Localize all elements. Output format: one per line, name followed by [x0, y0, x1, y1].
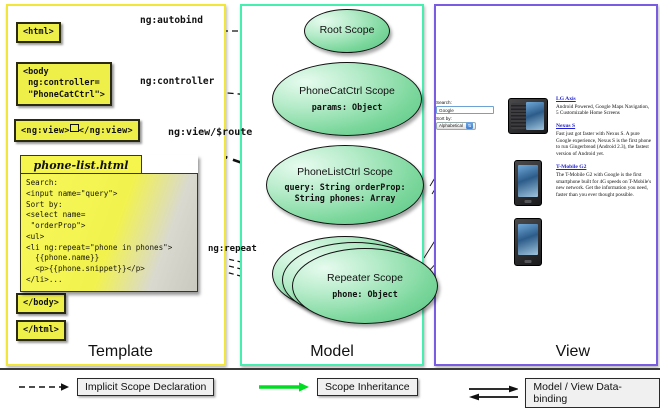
partial-template-callout: phone-list.html Search: <input name="que… — [20, 155, 198, 292]
sort-label: Sort by: — [436, 116, 498, 122]
wire-label-controller: ng:controller — [140, 76, 214, 87]
view-phone-list: LG Axis Android Powered, Google Maps Nav… — [556, 96, 652, 205]
phone-snippet: The T-Mobile G2 with Google is the first… — [556, 172, 652, 199]
phone-name-link[interactable]: LG Axis — [556, 96, 652, 102]
legend-label: Implicit Scope Declaration — [77, 378, 214, 396]
scope-phonelistctrl: PhoneListCtrl Scope query: String orderP… — [266, 145, 424, 225]
view-search-form: Search: Google Sort by: Alphabetical ⇅ — [436, 100, 498, 130]
phone-snippet: Android Powered, Google Maps Navigation,… — [556, 104, 652, 118]
panel-model-label: Model — [242, 343, 422, 361]
dashed-arrow-icon — [18, 381, 70, 393]
legend: Implicit Scope Declaration Scope Inherit… — [0, 368, 660, 407]
wire-label-ngrepeat: ng:repeat — [208, 244, 257, 254]
partial-code: Search: <input name="query"> Sort by: <s… — [20, 173, 198, 292]
ngview-open: <ng:view> — [21, 126, 70, 136]
scope-repeater: Repeater Scope phone: Object — [292, 248, 438, 324]
home-button-icon — [525, 200, 532, 203]
html-tag: <html> — [16, 22, 61, 43]
home-button-icon — [525, 260, 532, 263]
wire-label-ngview-route: ng:view/$route — [168, 127, 252, 138]
scope-phonecatctrl: PhoneCatCtrl Scope params: Object — [272, 62, 422, 136]
legend-item-scope-inheritance: Scope Inheritance — [258, 378, 418, 396]
list-item: LG Axis Android Powered, Google Maps Nav… — [556, 96, 652, 117]
sort-select[interactable]: Alphabetical ⇅ — [436, 122, 476, 130]
scope-phonecatctrl-props: params: Object — [312, 102, 383, 113]
partial-title: phone-list.html — [20, 155, 142, 174]
panel-template-label: Template — [8, 343, 224, 361]
scope-repeater-props: phone: Object — [332, 289, 398, 300]
phone-name-link[interactable]: T-Mobile G2 — [556, 164, 652, 170]
phone-screen — [526, 102, 544, 130]
sort-select-value: Alphabetical — [439, 122, 463, 130]
legend-item-data-binding: Model / View Data-binding — [468, 378, 660, 408]
scope-phonelistctrl-props: query: String orderProp: String phones: … — [267, 182, 423, 203]
scope-phonecatctrl-name: PhoneCatCtrl Scope — [299, 86, 395, 98]
phone-screen — [518, 224, 538, 255]
scope-root: Root Scope — [304, 9, 390, 53]
html-close-tag: </html> — [16, 320, 66, 341]
diagram-canvas: Template <html> <body ng:controller= "Ph… — [0, 0, 660, 405]
search-label: Search: — [436, 100, 498, 106]
ngview-placeholder-icon — [70, 124, 79, 132]
phone-thumbnail-lg-axis — [508, 98, 548, 134]
phone-name-link[interactable]: Nexus S — [556, 123, 652, 129]
phone-screen — [518, 165, 538, 197]
legend-label: Scope Inheritance — [317, 378, 418, 396]
body-tag: <body ng:controller= "PhoneCatCtrl"> — [16, 62, 112, 106]
scope-repeater-name: Repeater Scope — [327, 273, 403, 285]
wire-label-autobind: ng:autobind — [140, 15, 203, 26]
keyboard-detail — [511, 103, 526, 129]
double-arrow-icon — [468, 385, 518, 401]
legend-label: Model / View Data-binding — [525, 378, 660, 408]
phone-thumbnail-tmobile-g2 — [514, 218, 542, 266]
ngview-tag: <ng:view></ng:view> — [14, 119, 140, 142]
phone-snippet: Fast just got faster with Nexus S. A pur… — [556, 131, 652, 158]
legend-item-implicit-scope: Implicit Scope Declaration — [18, 378, 214, 396]
ngview-close: </ng:view> — [79, 126, 133, 136]
phone-thumbnail-nexus-s — [514, 160, 542, 206]
scope-phonelistctrl-name: PhoneListCtrl Scope — [297, 167, 393, 179]
search-input[interactable]: Google — [436, 106, 494, 114]
scope-root-name: Root Scope — [320, 25, 375, 37]
body-close-tag: </body> — [16, 293, 66, 314]
list-item: Nexus S Fast just got faster with Nexus … — [556, 123, 652, 158]
panel-view-label: View — [436, 343, 656, 361]
solid-arrow-icon — [258, 381, 310, 393]
list-item: T-Mobile G2 The T-Mobile G2 with Google … — [556, 164, 652, 199]
chevron-updown-icon: ⇅ — [466, 122, 473, 129]
